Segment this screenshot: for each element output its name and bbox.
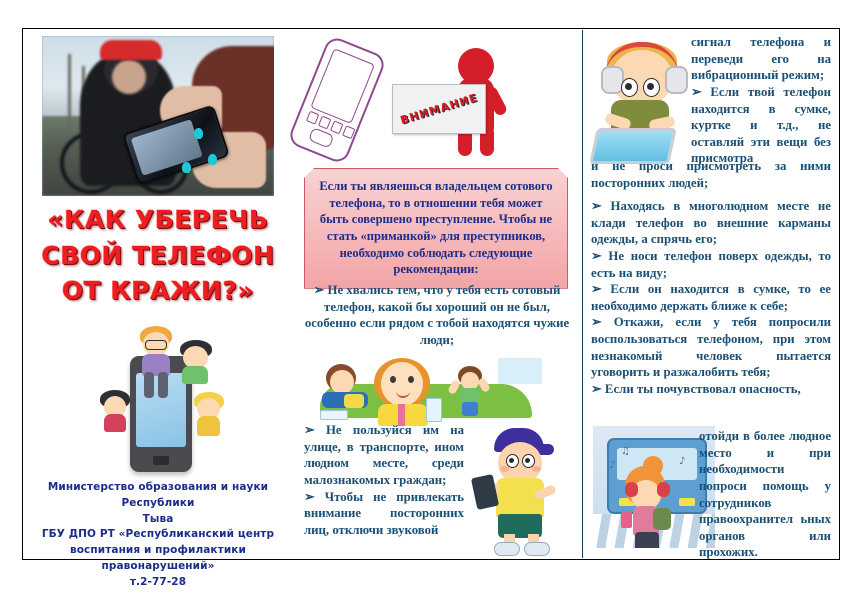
illustration-shoe — [524, 542, 550, 556]
illustration-phone-home-button — [153, 456, 169, 465]
right-panel: сигнал телефона и переведи его на вибрац… — [582, 30, 838, 558]
illustration-cheek — [532, 466, 541, 472]
tip-group-right-middle: ➢ Находясь в многолюдном месте не клади … — [591, 198, 831, 398]
illustration-face — [381, 362, 423, 406]
illustration-pupil — [625, 83, 632, 90]
illustration-cheek — [500, 466, 509, 472]
left-panel: «КАК УБЕРЕЧЬ СВОЙ ТЕЛЕФОН ОТ КРАЖИ?» — [24, 30, 292, 558]
photo-cyclist-cap — [100, 40, 162, 60]
middle-panel: ВНИМАНИЕ Если ты являешься владельцем со… — [296, 30, 578, 558]
ministry-line-3: ГБУ ДПО РТ «Республиканский центр — [26, 527, 290, 543]
phone-outline-icon — [287, 35, 388, 166]
tip-item-8: ➢ Откажи, если у тебя попросили воспольз… — [591, 314, 831, 381]
phone-key — [318, 116, 331, 130]
tip-item-6: ➢ Не носи телефон поверх одежды, то есть… — [591, 248, 831, 281]
intro-callout-box: Если ты являешься владельцем сотового те… — [304, 168, 568, 289]
illustration-eye — [390, 376, 396, 383]
attention-sign-label: ВНИМАНИЕ — [399, 91, 479, 127]
illustration-sleeve — [344, 394, 364, 408]
illustration-tablet — [471, 474, 499, 510]
tip-item-2: ➢ Не пользуйся им на улице, в транспорте… — [304, 422, 464, 489]
illustration-body — [197, 416, 220, 436]
title-line-3: ОТ КРАЖИ?» — [28, 273, 288, 309]
page-title: «КАК УБЕРЕЧЬ СВОЙ ТЕЛЕФОН ОТ КРАЖИ?» — [28, 202, 288, 309]
illustration-bus-headlight — [679, 498, 695, 506]
phone-outline-screen — [310, 48, 375, 124]
phone-key — [330, 120, 343, 134]
illustration-music-note: ♪ — [679, 456, 685, 467]
photo-tree — [68, 54, 71, 132]
ministry-line-2: Тыва — [26, 512, 290, 528]
phone-key — [342, 125, 355, 139]
illustration-music-note: ♪ — [609, 460, 615, 471]
title-line-2: СВОЙ ТЕЛЕФОН — [28, 238, 288, 274]
kid-with-headphones-and-tablet-illustration — [595, 36, 691, 158]
tip-item-9-continued: отойди в более людное место и при необхо… — [699, 428, 831, 561]
illustration-pants — [462, 402, 478, 416]
illustration-body — [182, 366, 208, 384]
tip-item-3-continued: сигнал телефона и переведи его на вибрац… — [691, 34, 831, 84]
illustration-headphone-cup — [625, 482, 638, 497]
phone-theft-photo — [42, 36, 274, 196]
photo-fingernail — [194, 128, 203, 139]
ministry-line-1: Министерство образования и науки Республ… — [26, 480, 290, 512]
ministry-credit-block: Министерство образования и науки Республ… — [26, 480, 290, 590]
tip-group-middle-bottom: ➢ Не пользуйся им на улице, в транспорте… — [304, 422, 464, 538]
tip-item-3: ➢ Чтобы не привлекать внимание посторонн… — [304, 489, 464, 539]
illustration-legs — [635, 532, 659, 548]
illustration-phone — [426, 398, 442, 422]
illustration-leg — [144, 372, 154, 398]
tip-item-5: ➢ Находясь в многолюдном месте не клади … — [591, 198, 831, 248]
illustration-face — [330, 370, 354, 394]
illustration-phone — [621, 512, 632, 528]
tip-item-4-continued: и не проси присмотреть за ними посторонн… — [591, 158, 831, 191]
boy-with-tablet-illustration — [472, 428, 572, 554]
three-kids-with-devices-illustration — [312, 356, 542, 418]
illustration-headphone-cup — [657, 482, 670, 497]
illustration-music-note: ♫ — [621, 446, 630, 457]
girl-with-headphones-crossing-street-illustration: ♪ ♫ ♪ — [593, 426, 715, 548]
right-panel-content: сигнал телефона и переведи его на вибрац… — [591, 30, 833, 558]
ministry-phone-number: т.2-77-28 — [26, 575, 290, 591]
illustration-backpack — [653, 508, 671, 530]
tip-item-1: ➢ Не хвались тем, что у тебя есть сотовы… — [304, 282, 570, 349]
illustration-shoe — [494, 542, 520, 556]
illustration-headphone-cup — [665, 66, 688, 94]
tip-item-7: ➢ Если он находится в сумке, то ее необх… — [591, 281, 831, 314]
illustration-pupil — [525, 458, 530, 463]
brochure-page: «КАК УБЕРЕЧЬ СВОЙ ТЕЛЕФОН ОТ КРАЖИ?» — [0, 0, 848, 598]
illustration-leg — [158, 372, 168, 398]
illustration-pupil — [509, 458, 514, 463]
illustration-pupil — [647, 83, 654, 90]
attention-figure-with-sign: ВНИМАНИЕ — [298, 32, 576, 168]
photo-cyclist-face — [112, 60, 146, 94]
tip-item-9: ➢ Если ты почувствовал опасность, — [591, 381, 831, 398]
illustration-eye — [408, 376, 414, 383]
illustration-body — [104, 414, 126, 432]
phone-key — [306, 111, 319, 125]
photo-fingernail — [182, 162, 191, 173]
illustration-glasses — [145, 340, 167, 350]
attention-sign: ВНИМАНИЕ — [392, 84, 486, 134]
photo-fingernail — [208, 154, 217, 165]
illustration-tablet — [320, 410, 348, 420]
tip-item-4: ➢ Если твой телефон находится в сумке, к… — [691, 84, 831, 167]
illustration-info-card — [498, 358, 542, 384]
ministry-line-4: воспитания и профилактики правонарушений… — [26, 543, 290, 575]
kids-on-smartphone-illustration — [98, 326, 228, 476]
photo-phone-screen — [131, 119, 203, 176]
title-line-1: «КАК УБЕРЕЧЬ — [28, 202, 288, 238]
tip-group-right-top: сигнал телефона и переведи его на вибрац… — [691, 34, 831, 167]
